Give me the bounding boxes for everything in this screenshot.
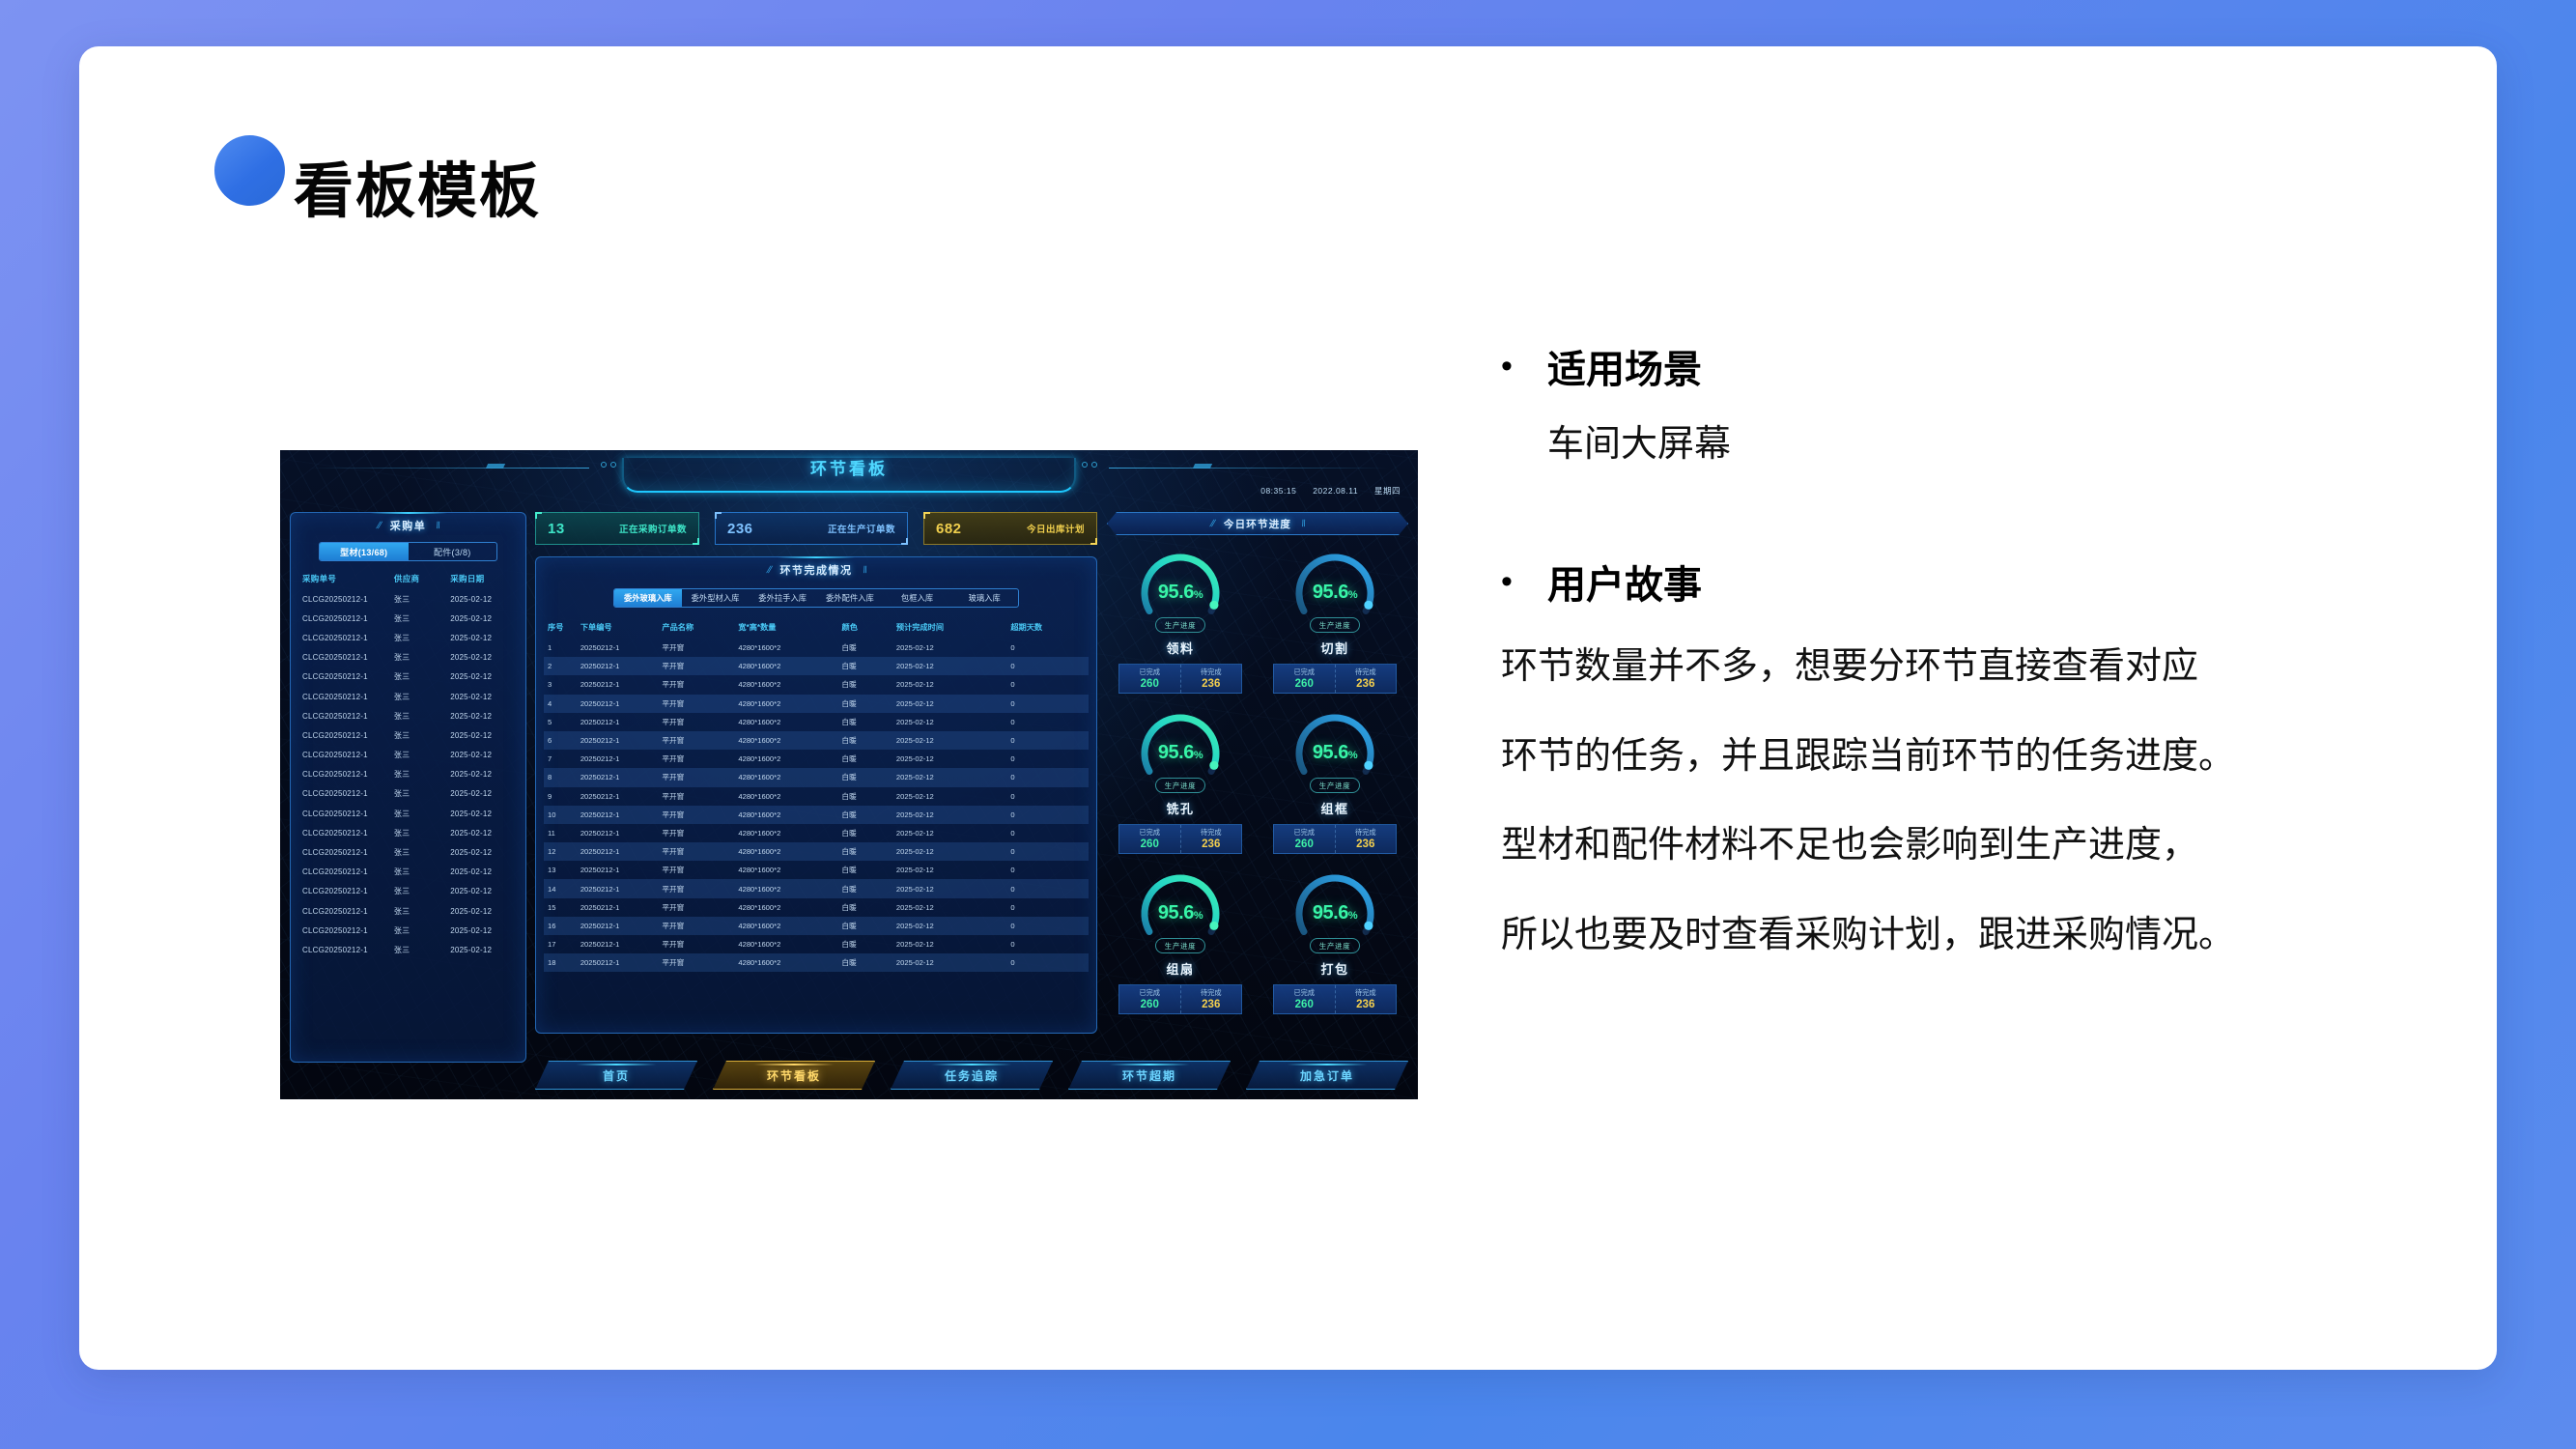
table-row[interactable]: CLCG20250212-1张三2025-02-12 (291, 706, 525, 725)
gauge-todo-label: 待完成 (1201, 828, 1222, 838)
cell-overdue-days: 0 (1006, 898, 1089, 917)
cell-overdue-days: 0 (1006, 768, 1089, 786)
cell-index: 13 (544, 861, 577, 879)
header-decor-circle-icon (601, 462, 607, 468)
cell-supplier: 张三 (394, 765, 450, 784)
cell-overdue-days: 0 (1006, 639, 1089, 657)
cell-index: 1 (544, 639, 577, 657)
cell-color: 白暖 (838, 750, 892, 768)
corner-decor (535, 512, 542, 519)
cell-overdue-days: 0 (1006, 731, 1089, 750)
table-row[interactable]: 1620250212-1平开窗4280*1600*2白暖2025-02-120 (544, 917, 1089, 935)
cell-eta: 2025-02-12 (892, 713, 1006, 731)
cell-supplier: 张三 (394, 746, 450, 765)
gauge-tag: 生产进度 (1155, 778, 1205, 793)
cell-supplier: 张三 (394, 589, 450, 609)
kpi-value: 236 (727, 521, 753, 537)
cell-supplier: 张三 (394, 687, 450, 706)
header-mark-right-icon: \\ (1299, 519, 1306, 529)
scenario-heading: 适用场景 (1547, 346, 1702, 394)
kpi-label: 正在采购订单数 (619, 522, 687, 535)
cell-date: 2025-02-12 (450, 784, 525, 804)
cell-supplier: 张三 (394, 725, 450, 745)
header-decor-circle-icon (1082, 462, 1088, 468)
cell-product: 平开窗 (658, 657, 734, 675)
page-title: 看板模板 (294, 162, 541, 222)
stage-table-body: 120250212-1平开窗4280*1600*2白暖2025-02-12022… (544, 639, 1089, 972)
column-header-overdue-days: 超期天数 (1006, 617, 1089, 639)
panel-top-cap-decor (778, 556, 855, 558)
stage-tab-outsourced-handle[interactable]: 委外拉手入库 (749, 589, 816, 607)
cell-eta: 2025-02-12 (892, 824, 1006, 842)
cell-order-no: CLCG20250212-1 (291, 589, 394, 609)
cell-eta: 2025-02-12 (892, 657, 1006, 675)
gauge-tag: 生产进度 (1155, 938, 1205, 953)
cell-color: 白暖 (838, 898, 892, 917)
gauge-done-value: 260 (1141, 838, 1159, 850)
bullet-marker-icon: • (1501, 346, 1518, 387)
purchase-panel-header: // 采购单 \\ (291, 515, 525, 536)
cell-color: 白暖 (838, 731, 892, 750)
user-story-line: 环节数量并不多，想要分环节直接查看对应 (1501, 635, 2496, 699)
cell-supplier: 张三 (394, 668, 450, 687)
table-row[interactable]: 720250212-1平开窗4280*1600*2白暖2025-02-120 (544, 750, 1089, 768)
table-row[interactable]: 120250212-1平开窗4280*1600*2白暖2025-02-120 (544, 639, 1089, 657)
today-stage-progress-panel: // 今日环节进度 \\ 95.6%生产进度领料已完成260待完成23695.6… (1107, 512, 1408, 1034)
cell-index: 14 (544, 879, 577, 897)
gauge-todo-value: 236 (1356, 838, 1374, 850)
cell-date: 2025-02-12 (450, 921, 525, 940)
column-header-order-no: 下单编号 (577, 617, 659, 639)
cell-overdue-days: 0 (1006, 953, 1089, 972)
bullet-marker-icon: • (1501, 561, 1518, 603)
cell-overdue-days: 0 (1006, 917, 1089, 935)
table-row[interactable]: CLCG20250212-1张三2025-02-12 (291, 725, 525, 745)
cell-supplier: 张三 (394, 863, 450, 882)
nav-button-cap-decor (1288, 1064, 1368, 1065)
gauge-cell-组扇[interactable]: 95.6%生产进度组扇已完成260待完成236 (1107, 867, 1254, 1014)
gauge-unit: % (1194, 589, 1203, 601)
cell-overdue-days: 0 (1006, 675, 1089, 694)
cell-dimensions: 4280*1600*2 (734, 713, 837, 731)
gauge-done: 已完成260 (1119, 665, 1180, 693)
cell-order-no: 20250212-1 (577, 824, 659, 842)
cell-order-no: CLCG20250212-1 (291, 921, 394, 940)
table-row[interactable]: 420250212-1平开窗4280*1600*2白暖2025-02-120 (544, 695, 1089, 713)
nav-button-任务追踪[interactable]: 任务追踪 (891, 1061, 1053, 1090)
table-row[interactable]: CLCG20250212-1张三2025-02-12 (291, 609, 525, 628)
cell-order-no: 20250212-1 (577, 917, 659, 935)
column-header-product: 产品名称 (658, 617, 734, 639)
gauge-stats: 已完成260待完成236 (1118, 664, 1242, 694)
cell-dimensions: 4280*1600*2 (734, 639, 837, 657)
cell-order-no: 20250212-1 (577, 768, 659, 786)
cell-date: 2025-02-12 (450, 842, 525, 862)
cell-index: 15 (544, 898, 577, 917)
cell-date: 2025-02-12 (450, 706, 525, 725)
purchase-tab-profile[interactable]: 型材(13/68) (320, 543, 409, 560)
gauge-stats: 已完成260待完成236 (1118, 824, 1242, 854)
cell-dimensions: 4280*1600*2 (734, 768, 837, 786)
cell-order-no: CLCG20250212-1 (291, 628, 394, 647)
cell-overdue-days: 0 (1006, 713, 1089, 731)
cell-product: 平开窗 (658, 824, 734, 842)
purchase-order-panel: // 采购单 \\ 型材(13/68) 配件(3/8) 采购单号 供应商 采购日… (290, 512, 526, 1063)
purchase-tab-group[interactable]: 型材(13/68) 配件(3/8) (319, 542, 497, 561)
cell-product: 平开窗 (658, 787, 734, 806)
table-row[interactable]: CLCG20250212-1张三2025-02-12 (291, 784, 525, 804)
gauge-cell-组框[interactable]: 95.6%生产进度组框已完成260待完成236 (1261, 707, 1408, 854)
cell-order-no: CLCG20250212-1 (291, 804, 394, 823)
cell-product: 平开窗 (658, 713, 734, 731)
gauge-done-label: 已完成 (1139, 828, 1160, 838)
cell-index: 6 (544, 731, 577, 750)
table-row[interactable]: CLCG20250212-1张三2025-02-12 (291, 668, 525, 687)
scenario-body: 车间大屏幕 (1547, 421, 2496, 469)
user-story-heading: 用户故事 (1547, 561, 1702, 610)
gauge-todo-value: 236 (1356, 678, 1374, 690)
cell-order-no: CLCG20250212-1 (291, 706, 394, 725)
cell-product: 平开窗 (658, 917, 734, 935)
table-row[interactable]: 1520250212-1平开窗4280*1600*2白暖2025-02-120 (544, 898, 1089, 917)
nav-button-label: 环节超期 (1122, 1067, 1176, 1084)
cell-dimensions: 4280*1600*2 (734, 731, 837, 750)
purchase-table-body: CLCG20250212-1张三2025-02-12CLCG20250212-1… (291, 589, 525, 960)
cell-order-no: 20250212-1 (577, 787, 659, 806)
cell-index: 12 (544, 842, 577, 861)
cell-date: 2025-02-12 (450, 609, 525, 628)
cell-overdue-days: 0 (1006, 935, 1089, 953)
table-row[interactable]: 920250212-1平开窗4280*1600*2白暖2025-02-120 (544, 787, 1089, 806)
header-mark-left-icon: // (375, 521, 382, 531)
cell-order-no: CLCG20250212-1 (291, 725, 394, 745)
gauge-done-label: 已完成 (1139, 668, 1160, 677)
gauge-done-value: 260 (1295, 678, 1314, 690)
cell-dimensions: 4280*1600*2 (734, 953, 837, 972)
header-decor-tick-icon (1193, 464, 1212, 469)
gauge-done-label: 已完成 (1293, 828, 1315, 838)
table-row[interactable]: CLCG20250212-1张三2025-02-12 (291, 842, 525, 862)
table-row[interactable]: 220250212-1平开窗4280*1600*2白暖2025-02-120 (544, 657, 1089, 675)
cell-order-no: CLCG20250212-1 (291, 609, 394, 628)
table-row[interactable]: CLCG20250212-1张三2025-02-12 (291, 687, 525, 706)
cell-eta: 2025-02-12 (892, 675, 1006, 694)
nav-button-加急订单[interactable]: 加急订单 (1246, 1061, 1408, 1090)
cell-order-no: CLCG20250212-1 (291, 687, 394, 706)
gauge-todo: 待完成236 (1335, 665, 1397, 693)
table-row[interactable]: 820250212-1平开窗4280*1600*2白暖2025-02-120 (544, 768, 1089, 786)
cell-eta: 2025-02-12 (892, 731, 1006, 750)
cell-dimensions: 4280*1600*2 (734, 898, 837, 917)
table-row[interactable]: 1320250212-1平开窗4280*1600*2白暖2025-02-120 (544, 861, 1089, 879)
cell-supplier: 张三 (394, 882, 450, 901)
header-mark-right-icon: \\ (434, 521, 440, 531)
cell-product: 平开窗 (658, 750, 734, 768)
table-row[interactable]: 1420250212-1平开窗4280*1600*2白暖2025-02-120 (544, 879, 1089, 897)
nav-button-label: 加急订单 (1300, 1067, 1354, 1084)
cell-index: 11 (544, 824, 577, 842)
content-text-column: • 适用场景 车间大屏幕 • 用户故事 环节数量并不多，想要分环节直接查看对应 … (1501, 346, 2496, 967)
cell-dimensions: 4280*1600*2 (734, 824, 837, 842)
column-header-order-no: 采购单号 (291, 569, 394, 589)
cell-date: 2025-02-12 (450, 940, 525, 959)
corner-decor (715, 512, 722, 519)
table-row[interactable]: 1120250212-1平开窗4280*1600*2白暖2025-02-120 (544, 824, 1089, 842)
kpi-card-producing-orders[interactable]: 236 正在生产订单数 (715, 512, 908, 545)
nav-button-cap-decor (1110, 1064, 1190, 1065)
user-story-line: 所以也要及时查看采购计划，跟进采购情况。 (1501, 903, 2496, 968)
header-datetime: 08:35:15 2022.08.11 星期四 (1247, 485, 1401, 497)
stage-tab-glass[interactable]: 玻璃入库 (950, 589, 1018, 607)
gauge-todo-label: 待完成 (1355, 828, 1376, 838)
purchase-panel-title: 采购单 (390, 518, 427, 533)
gauge-grid: 95.6%生产进度领料已完成260待完成23695.6%生产进度切割已完成260… (1107, 547, 1408, 1014)
cell-overdue-days: 0 (1006, 861, 1089, 879)
column-header-dimensions: 宽*高*数量 (734, 617, 837, 639)
gauge-todo-label: 待完成 (1201, 988, 1222, 998)
stage-completion-title: 环节完成情况 (780, 562, 853, 578)
corner-decor (1090, 538, 1097, 545)
gauge-done: 已完成260 (1274, 665, 1335, 693)
cell-overdue-days: 0 (1006, 695, 1089, 713)
cell-color: 白暖 (838, 675, 892, 694)
table-row[interactable]: CLCG20250212-1张三2025-02-12 (291, 921, 525, 940)
cell-index: 17 (544, 935, 577, 953)
gauge-todo: 待完成236 (1180, 825, 1242, 853)
table-row[interactable]: CLCG20250212-1张三2025-02-12 (291, 589, 525, 609)
cell-index: 7 (544, 750, 577, 768)
gauge-stats: 已完成260待完成236 (1273, 824, 1397, 854)
gauge-value: 95.6% (1261, 582, 1408, 604)
gauge-unit: % (1194, 750, 1203, 761)
gauge-todo-label: 待完成 (1355, 668, 1376, 677)
table-row[interactable]: CLCG20250212-1张三2025-02-12 (291, 628, 525, 647)
cell-overdue-days: 0 (1006, 824, 1089, 842)
header-decor-tick-icon (486, 464, 505, 469)
gauge-value: 95.6% (1107, 582, 1254, 604)
kpi-label: 今日出库计划 (1027, 522, 1085, 535)
cell-product: 平开窗 (658, 639, 734, 657)
cell-index: 16 (544, 917, 577, 935)
column-header-date: 采购日期 (450, 569, 525, 589)
nav-button-label: 环节看板 (767, 1067, 821, 1084)
cell-order-no: CLCG20250212-1 (291, 940, 394, 959)
cell-supplier: 张三 (394, 706, 450, 725)
table-row[interactable]: CLCG20250212-1张三2025-02-12 (291, 765, 525, 784)
table-row[interactable]: CLCG20250212-1张三2025-02-12 (291, 940, 525, 959)
table-row[interactable]: CLCG20250212-1张三2025-02-12 (291, 823, 525, 842)
cell-color: 白暖 (838, 842, 892, 861)
kpi-value: 13 (548, 521, 565, 537)
purchase-order-table: 采购单号 供应商 采购日期 CLCG20250212-1张三2025-02-12… (291, 569, 525, 960)
cell-dimensions: 4280*1600*2 (734, 695, 837, 713)
cell-color: 白暖 (838, 879, 892, 897)
kpi-card-outbound-plan[interactable]: 682 今日出库计划 (923, 512, 1097, 545)
dashboard-bottom-nav[interactable]: 首页环节看板任务追踪环节超期加急订单 (535, 1061, 1408, 1090)
cell-order-no: CLCG20250212-1 (291, 746, 394, 765)
gauge-todo-value: 236 (1202, 999, 1220, 1010)
nav-button-环节超期[interactable]: 环节超期 (1068, 1061, 1231, 1090)
gauge-todo: 待完成236 (1180, 665, 1242, 693)
table-row[interactable]: 620250212-1平开窗4280*1600*2白暖2025-02-120 (544, 731, 1089, 750)
kpi-card-purchasing-orders[interactable]: 13 正在采购订单数 (535, 512, 699, 545)
table-row[interactable]: 520250212-1平开窗4280*1600*2白暖2025-02-120 (544, 713, 1089, 731)
gauge-cell-铣孔[interactable]: 95.6%生产进度铣孔已完成260待完成236 (1107, 707, 1254, 854)
nav-button-label: 任务追踪 (945, 1067, 999, 1084)
user-story-line: 环节的任务，并且跟踪当前环节的任务进度。 (1501, 724, 2496, 789)
gauge-unit: % (1348, 750, 1357, 761)
table-row[interactable]: 320250212-1平开窗4280*1600*2白暖2025-02-120 (544, 675, 1089, 694)
gauge-tag: 生产进度 (1155, 617, 1205, 633)
gauge-stage-name: 切割 (1320, 639, 1348, 657)
cell-product: 平开窗 (658, 898, 734, 917)
cell-dimensions: 4280*1600*2 (734, 935, 837, 953)
cell-date: 2025-02-12 (450, 746, 525, 765)
gauge-stage-name: 领料 (1166, 639, 1194, 657)
stage-tab-outsourced-glass[interactable]: 委外玻璃入库 (614, 589, 682, 607)
stage-tab-frame[interactable]: 包框入库 (884, 589, 951, 607)
cell-order-no: CLCG20250212-1 (291, 765, 394, 784)
table-row[interactable]: CLCG20250212-1张三2025-02-12 (291, 648, 525, 668)
gauge-todo: 待完成236 (1180, 985, 1242, 1013)
gauge-stage-name: 组扇 (1166, 959, 1194, 978)
cell-supplier: 张三 (394, 901, 450, 921)
cell-order-no: 20250212-1 (577, 731, 659, 750)
cell-eta: 2025-02-12 (892, 750, 1006, 768)
gauge-stats: 已完成260待完成236 (1118, 984, 1242, 1014)
stage-completion-header: // 环节完成情况 \\ (536, 559, 1096, 581)
cell-date: 2025-02-12 (450, 668, 525, 687)
cell-dimensions: 4280*1600*2 (734, 879, 837, 897)
cell-overdue-days: 0 (1006, 879, 1089, 897)
gauge-cell-切割[interactable]: 95.6%生产进度切割已完成260待完成236 (1261, 547, 1408, 694)
cell-product: 平开窗 (658, 935, 734, 953)
gauge-todo-label: 待完成 (1355, 988, 1376, 998)
table-row[interactable]: CLCG20250212-1张三2025-02-12 (291, 804, 525, 823)
corner-decor (693, 538, 699, 545)
gauge-cell-领料[interactable]: 95.6%生产进度领料已完成260待完成236 (1107, 547, 1254, 694)
column-header-supplier: 供应商 (394, 569, 450, 589)
header-time: 08:35:15 (1260, 486, 1296, 496)
cell-eta: 2025-02-12 (892, 879, 1006, 897)
cell-supplier: 张三 (394, 784, 450, 804)
table-row[interactable]: CLCG20250212-1张三2025-02-12 (291, 863, 525, 882)
cell-overdue-days: 0 (1006, 787, 1089, 806)
cell-dimensions: 4280*1600*2 (734, 675, 837, 694)
cell-dimensions: 4280*1600*2 (734, 657, 837, 675)
nav-button-cap-decor (754, 1064, 835, 1065)
cell-order-no: CLCG20250212-1 (291, 668, 394, 687)
gauge-stage-name: 铣孔 (1166, 799, 1194, 817)
cell-order-no: CLCG20250212-1 (291, 863, 394, 882)
gauge-done-label: 已完成 (1139, 988, 1160, 998)
stage-tab-group[interactable]: 委外玻璃入库 委外型材入库 委外拉手入库 委外配件入库 包框入库 玻璃入库 (613, 588, 1019, 608)
stage-progress-header: // 今日环节进度 \\ (1107, 512, 1408, 535)
gauge-stage-name: 打包 (1320, 959, 1348, 978)
cell-date: 2025-02-12 (450, 725, 525, 745)
table-row[interactable]: CLCG20250212-1张三2025-02-12 (291, 901, 525, 921)
cell-eta: 2025-02-12 (892, 787, 1006, 806)
cell-eta: 2025-02-12 (892, 917, 1006, 935)
cell-index: 18 (544, 953, 577, 972)
cell-order-no: 20250212-1 (577, 935, 659, 953)
cell-date: 2025-02-12 (450, 648, 525, 668)
gauge-value: 95.6% (1107, 902, 1254, 924)
cell-eta: 2025-02-12 (892, 842, 1006, 861)
cell-index: 3 (544, 675, 577, 694)
table-row[interactable]: 1020250212-1平开窗4280*1600*2白暖2025-02-120 (544, 806, 1089, 824)
cell-supplier: 张三 (394, 842, 450, 862)
gauge-unit: % (1348, 589, 1357, 601)
cell-order-no: 20250212-1 (577, 898, 659, 917)
cell-date: 2025-02-12 (450, 687, 525, 706)
cell-index: 8 (544, 768, 577, 786)
nav-button-cap-decor (932, 1064, 1012, 1065)
cell-order-no: CLCG20250212-1 (291, 901, 394, 921)
purchase-tab-accessory[interactable]: 配件(3/8) (409, 543, 497, 560)
cell-date: 2025-02-12 (450, 589, 525, 609)
cell-product: 平开窗 (658, 861, 734, 879)
gauge-todo: 待完成236 (1335, 825, 1397, 853)
slide-card: 看板模板 • 适用场景 车间大屏幕 • 用户故事 环节数量并不多，想要分环节直接… (79, 46, 2497, 1370)
cell-supplier: 张三 (394, 609, 450, 628)
header-mark-right-icon: \\ (861, 565, 867, 576)
gauge-done: 已完成260 (1119, 985, 1180, 1013)
table-row[interactable]: 1720250212-1平开窗4280*1600*2白暖2025-02-120 (544, 935, 1089, 953)
header-decor-circle-icon (1091, 462, 1097, 468)
gauge-done-value: 260 (1141, 999, 1159, 1010)
cell-dimensions: 4280*1600*2 (734, 842, 837, 861)
cell-product: 平开窗 (658, 806, 734, 824)
table-row[interactable]: 1820250212-1平开窗4280*1600*2白暖2025-02-120 (544, 953, 1089, 972)
cell-color: 白暖 (838, 861, 892, 879)
table-row[interactable]: CLCG20250212-1张三2025-02-12 (291, 882, 525, 901)
dashboard-screenshot: 环节看板 08:35:15 2022.08.11 星期四 13 正在采购订单数 … (280, 450, 1418, 1099)
nav-button-首页[interactable]: 首页 (535, 1061, 697, 1090)
cell-order-no: 20250212-1 (577, 953, 659, 972)
cell-date: 2025-02-12 (450, 882, 525, 901)
stage-tab-outsourced-accessory[interactable]: 委外配件入库 (816, 589, 884, 607)
cell-order-no: CLCG20250212-1 (291, 882, 394, 901)
table-row[interactable]: 1220250212-1平开窗4280*1600*2白暖2025-02-120 (544, 842, 1089, 861)
gauge-cell-打包[interactable]: 95.6%生产进度打包已完成260待完成236 (1261, 867, 1408, 1014)
gauge-value: 95.6% (1261, 742, 1408, 764)
gauge-done-value: 260 (1141, 678, 1159, 690)
cell-order-no: CLCG20250212-1 (291, 842, 394, 862)
cell-order-no: 20250212-1 (577, 861, 659, 879)
cell-color: 白暖 (838, 917, 892, 935)
cell-order-no: 20250212-1 (577, 639, 659, 657)
gauge-tag: 生产进度 (1310, 938, 1360, 953)
cell-supplier: 张三 (394, 628, 450, 647)
column-header-index: 序号 (544, 617, 577, 639)
cell-order-no: 20250212-1 (577, 879, 659, 897)
gauge-done-label: 已完成 (1293, 668, 1315, 677)
cell-date: 2025-02-12 (450, 823, 525, 842)
cell-order-no: CLCG20250212-1 (291, 823, 394, 842)
stage-tab-outsourced-profile[interactable]: 委外型材入库 (682, 589, 750, 607)
cell-color: 白暖 (838, 657, 892, 675)
cell-product: 平开窗 (658, 675, 734, 694)
nav-button-环节看板[interactable]: 环节看板 (713, 1061, 875, 1090)
cell-product: 平开窗 (658, 953, 734, 972)
table-row[interactable]: CLCG20250212-1张三2025-02-12 (291, 746, 525, 765)
gauge-done-label: 已完成 (1293, 988, 1315, 998)
dashboard-header: 环节看板 08:35:15 2022.08.11 星期四 (280, 450, 1418, 506)
cell-dimensions: 4280*1600*2 (734, 750, 837, 768)
cell-order-no: CLCG20250212-1 (291, 648, 394, 668)
header-date: 2022.08.11 (1313, 486, 1358, 496)
